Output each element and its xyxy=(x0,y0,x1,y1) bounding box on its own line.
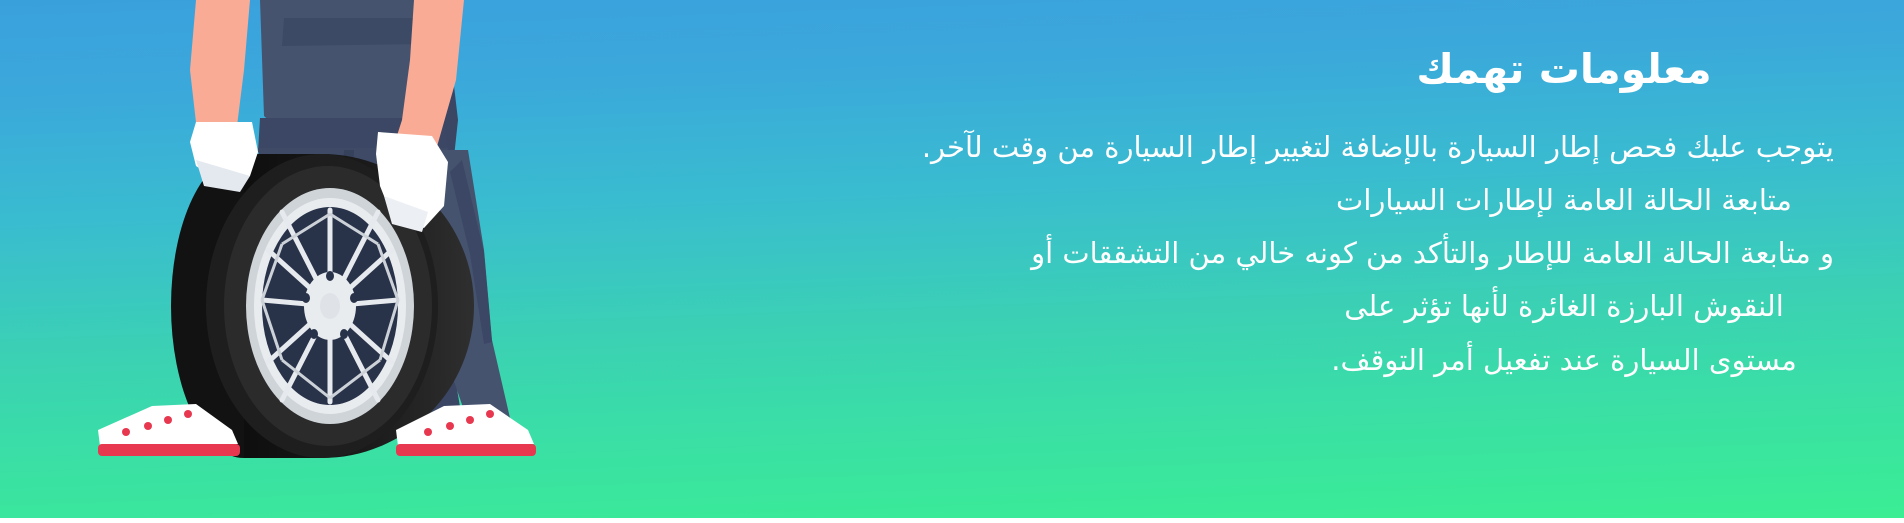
wheel-rim xyxy=(246,188,414,424)
body-line: و متابعة الحالة العامة للإطار والتأكد من… xyxy=(1294,227,1834,280)
body-line: متابعة الحالة العامة لإطارات السيارات xyxy=(1294,174,1834,227)
banner-text-column: معلومات تهمك يتوجب عليك فحص إطار السيارة… xyxy=(894,0,1904,518)
mechanic-rolling-tire-illustration xyxy=(92,0,542,518)
body-line: يتوجب عليك فحص إطار السيارة بالإضافة لتغ… xyxy=(1294,121,1834,174)
bottom-divider xyxy=(0,518,1904,523)
body-line: النقوش البارزة الغائرة لأنها تؤثر على xyxy=(1294,280,1834,333)
body-line: مستوى السيارة عند تفعيل أمر التوقف. xyxy=(1294,334,1834,387)
info-banner: معلومات تهمك يتوجب عليك فحص إطار السيارة… xyxy=(0,0,1904,523)
body-text-block: يتوجب عليك فحص إطار السيارة بالإضافة لتغ… xyxy=(1294,121,1834,386)
page-title: معلومات تهمك xyxy=(1294,0,1834,95)
